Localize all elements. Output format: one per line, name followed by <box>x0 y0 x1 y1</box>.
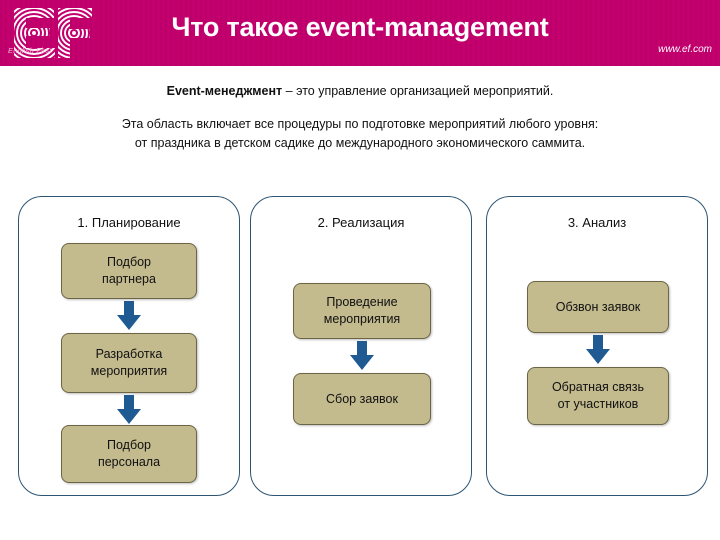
node-line: Обзвон заявок <box>556 299 641 316</box>
process-diagram: 1. Планирование Подбор партнера Разработ… <box>0 196 720 498</box>
arrow-down-icon <box>585 335 611 365</box>
node-1-3[interactable]: Подбор персонала <box>61 425 197 483</box>
arrow-down-icon <box>116 301 142 331</box>
intro-line-2: Эта область включает все процедуры по по… <box>0 115 720 134</box>
node-3-2[interactable]: Обратная связь от участников <box>527 367 669 425</box>
node-line: Проведение <box>326 294 397 311</box>
arrow-down-icon <box>116 395 142 425</box>
node-line: Сбор заявок <box>326 391 398 408</box>
node-2-1[interactable]: Проведение мероприятия <box>293 283 431 339</box>
stage-title-3: 3. Анализ <box>487 215 707 230</box>
page-title: Что такое event-management <box>100 12 620 43</box>
stage-column-1: 1. Планирование Подбор партнера Разработ… <box>18 196 240 496</box>
node-2-2[interactable]: Сбор заявок <box>293 373 431 425</box>
node-line: партнера <box>102 271 156 288</box>
node-line: Подбор <box>107 254 151 271</box>
node-line: Разработка <box>96 346 163 363</box>
logo-caption: English First <box>8 46 52 55</box>
stage-column-2: 2. Реализация Проведение мероприятия Сбо… <box>250 196 472 496</box>
arrow-down-icon <box>349 341 375 371</box>
intro-lead-term: Event-менеджмент <box>167 84 283 98</box>
intro-lead-rest: – это управление организацией мероприяти… <box>282 84 553 98</box>
intro-line-3: от праздника в детском садике до междуна… <box>0 134 720 153</box>
stage-title-2: 2. Реализация <box>251 215 471 230</box>
intro-text-block: Event-менеджмент – это управление органи… <box>0 82 720 153</box>
node-line: персонала <box>98 454 160 471</box>
node-line: мероприятия <box>91 363 167 380</box>
intro-lead-line: Event-менеджмент – это управление органи… <box>0 82 720 101</box>
node-line: от участников <box>558 396 639 413</box>
node-1-2[interactable]: Разработка мероприятия <box>61 333 197 393</box>
node-1-1[interactable]: Подбор партнера <box>61 243 197 299</box>
node-line: мероприятия <box>324 311 400 328</box>
stage-column-3: 3. Анализ Обзвон заявок Обратная связь о… <box>486 196 708 496</box>
stage-title-1: 1. Планирование <box>19 215 239 230</box>
node-line: Обратная связь <box>552 379 644 396</box>
node-3-1[interactable]: Обзвон заявок <box>527 281 669 333</box>
node-line: Подбор <box>107 437 151 454</box>
site-url: www.ef.com <box>658 44 712 55</box>
